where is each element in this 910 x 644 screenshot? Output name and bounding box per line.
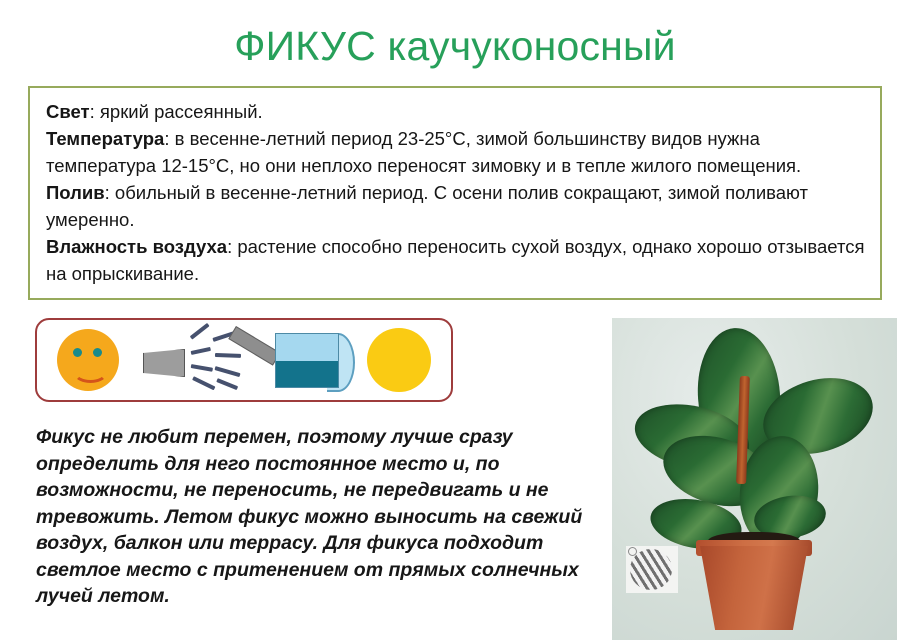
- sun-icon: [359, 320, 445, 400]
- spray-line: [191, 364, 213, 372]
- watering-can-body: [275, 333, 339, 388]
- watering-can-water: [276, 361, 338, 388]
- care-label-humidity: Влажность воздуха: [46, 236, 227, 257]
- care-line-light: Свет: яркий рассеянный.: [46, 98, 866, 125]
- care-label-light: Свет: [46, 101, 90, 122]
- spray-nozzle-shape: [143, 349, 185, 377]
- sun-disc-shape: [367, 328, 431, 392]
- watermark-disc: [630, 549, 672, 590]
- watermark-copyright-mark: [628, 547, 637, 556]
- page-title: ФИКУС каучуконосный: [0, 22, 910, 70]
- care-colon: :: [164, 128, 174, 149]
- ficus-elastica-photo: [612, 318, 897, 640]
- smiley-face-shape: [57, 329, 119, 391]
- spray-line: [215, 353, 241, 358]
- care-icon-strip: [35, 318, 453, 402]
- care-label-watering: Полив: [46, 182, 105, 203]
- terracotta-pot: [700, 546, 808, 630]
- smiley-mouth: [73, 361, 108, 383]
- smiley-eye-left: [73, 348, 82, 357]
- care-text-watering: обильный в весенне-летний период. С осен…: [46, 182, 808, 230]
- care-line-humidity: Влажность воздуха: растение способно пер…: [46, 233, 866, 287]
- spray-line: [191, 347, 211, 355]
- placement-note: Фикус не любит перемен, поэтому лучше ср…: [36, 424, 592, 610]
- striped-circle-watermark: [626, 546, 678, 593]
- watering-can-icon: [239, 320, 361, 400]
- care-text-light: яркий рассеянный.: [100, 101, 263, 122]
- care-line-temperature: Температура: в весенне-летний период 23-…: [46, 125, 866, 179]
- care-colon: :: [227, 236, 237, 257]
- smiley-icon: [53, 320, 127, 400]
- spray-line: [214, 366, 240, 377]
- care-info-box: Свет: яркий рассеянный. Температура: в в…: [28, 86, 882, 300]
- smiley-eye-right: [93, 348, 102, 357]
- care-colon: :: [90, 101, 100, 122]
- care-label-temperature: Температура: [46, 128, 164, 149]
- spray-line: [216, 378, 238, 390]
- spray-line: [190, 323, 210, 340]
- spray-line: [192, 376, 215, 390]
- care-line-watering: Полив: обильный в весенне-летний период.…: [46, 179, 866, 233]
- care-colon: :: [105, 182, 115, 203]
